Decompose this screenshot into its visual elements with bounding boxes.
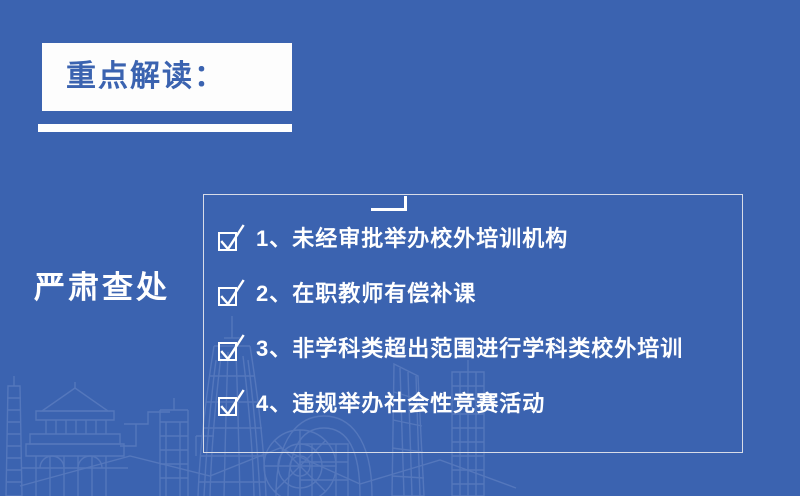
list-item[interactable]: 3、非学科类超出范围进行学科类校外培训	[212, 321, 742, 376]
list-item[interactable]: 1、未经审批举办校外培训机构	[212, 211, 742, 266]
list-item[interactable]: 4、违规举办社会性竞赛活动	[212, 376, 742, 431]
checkbox-checked-icon	[212, 279, 246, 309]
list-item-label: 3、非学科类超出范围进行学科类校外培训	[256, 338, 683, 360]
page-title: 重点解读：	[66, 62, 226, 92]
checkbox-checked-icon	[212, 334, 246, 364]
violation-list: 1、未经审批举办校外培训机构 2、在职教师有偿补课	[204, 195, 742, 452]
list-item-label: 4、违规举办社会性竞赛活动	[256, 393, 545, 415]
checkbox-checked-icon	[212, 224, 246, 254]
slide-canvas: 重点解读： 严肃查处 1、未经审批举办校外培训机构	[0, 0, 800, 496]
list-item-label: 1、未经审批举办校外培训机构	[256, 228, 568, 250]
list-item[interactable]: 2、在职教师有偿补课	[212, 266, 742, 321]
checkbox-checked-icon	[212, 389, 246, 419]
title-box: 重点解读：	[42, 43, 292, 111]
section-label: 严肃查处	[34, 272, 194, 303]
title-underline-bar	[38, 124, 292, 132]
list-panel: 1、未经审批举办校外培训机构 2、在职教师有偿补课	[203, 194, 743, 453]
list-item-label: 2、在职教师有偿补课	[256, 283, 476, 305]
